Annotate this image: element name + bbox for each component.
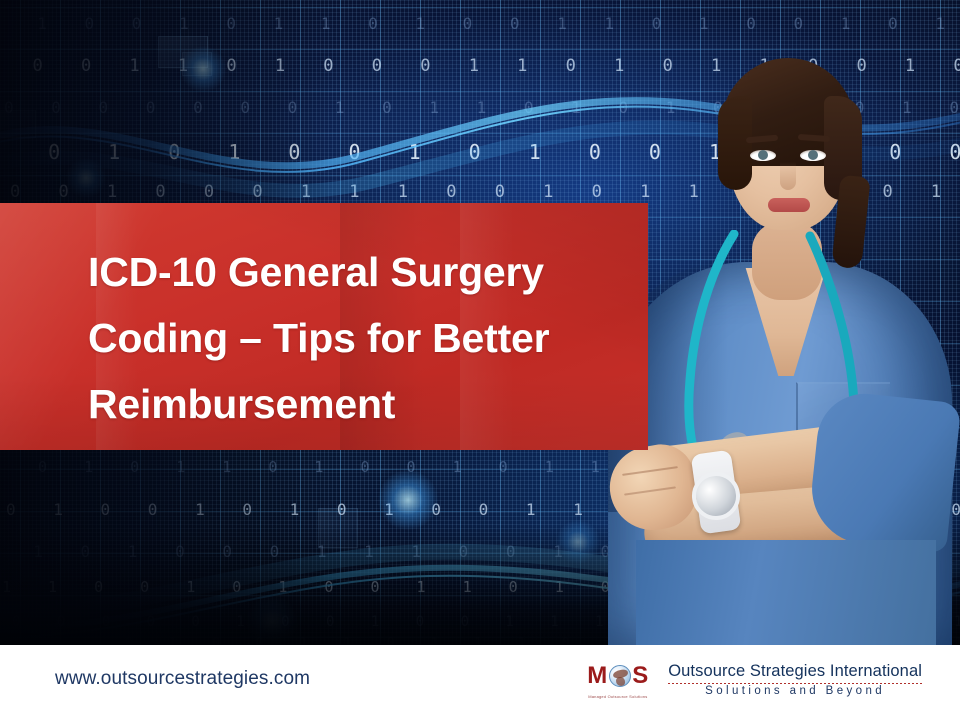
logo-divider — [668, 683, 922, 684]
title-line-2: Coding – Tips for Better — [88, 315, 549, 361]
logo-letter-m: M — [587, 662, 608, 690]
website-url[interactable]: www.outsourcestrategies.com — [55, 668, 310, 690]
company-logo[interactable]: M S Managed Outsource Solutions Outsourc… — [587, 656, 922, 702]
company-tagline: Solutions and Beyond — [668, 685, 922, 697]
page-title: ICD-10 General Surgery Coding – Tips for… — [88, 239, 648, 437]
iris-left — [758, 150, 768, 160]
title-banner: ICD-10 General Surgery Coding – Tips for… — [0, 203, 648, 450]
nose — [780, 162, 796, 190]
title-line-3: Reimbursement — [88, 381, 395, 427]
logo-mark: M S Managed Outsource Solutions — [587, 658, 659, 700]
title-line-1: ICD-10 General Surgery — [88, 249, 544, 295]
glow-point — [378, 470, 438, 530]
iris-right — [808, 150, 818, 160]
logo-mark-letters: M S — [587, 662, 659, 690]
scrubs-lower — [636, 540, 936, 645]
globe-icon — [609, 665, 631, 687]
company-name: Outsource Strategies International — [668, 662, 922, 681]
logo-mark-subtext: Managed Outsource Solutions — [588, 694, 658, 699]
logo-text-block: Outsource Strategies International Solut… — [668, 662, 922, 697]
logo-letter-s: S — [632, 662, 649, 690]
presentation-slide: 0 1 0 0 1 0 1 1 0 1 0 0 1 1 0 1 0 0 1 0 … — [0, 0, 960, 720]
lips — [768, 198, 810, 212]
healthcare-professional-photo — [600, 0, 960, 645]
scrubs-sleeve — [807, 389, 960, 553]
slide-footer: www.outsourcestrategies.com M S Managed … — [0, 645, 960, 720]
